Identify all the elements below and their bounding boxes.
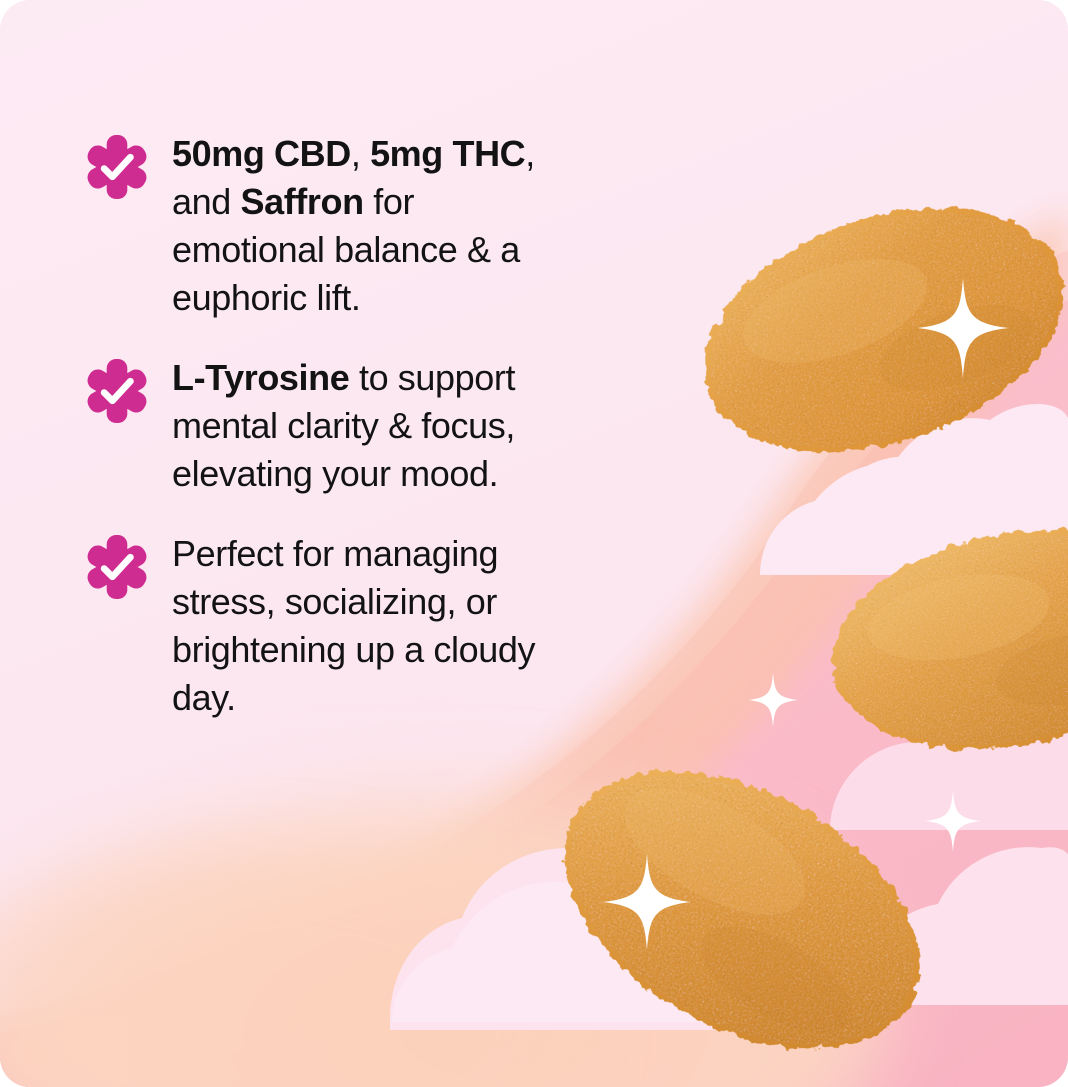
flower-check-icon (84, 534, 150, 600)
sparkle-large-bottom (603, 852, 691, 952)
sparkle-small-middle (748, 672, 798, 728)
benefit-text-3: Perfect for managing stress, socializing… (172, 528, 562, 722)
list-item: L-Tyrosine to support mental clarity & f… (84, 352, 604, 498)
benefit-1-bold-1: 50mg CBD (172, 133, 351, 174)
benefit-1-bold-3: Saffron (240, 181, 363, 222)
sparkle-large-top (917, 278, 1009, 378)
sparkle-small-right (925, 790, 981, 852)
flower-check-icon (84, 358, 150, 424)
benefit-text-2: L-Tyrosine to support mental clarity & f… (172, 352, 572, 498)
product-benefits-card: 50mg CBD, 5mg THC, and Saffron for emoti… (0, 0, 1068, 1087)
benefit-1-bold-2: 5mg THC (370, 133, 525, 174)
list-item: Perfect for managing stress, socializing… (84, 528, 604, 722)
benefit-1-plain-1: , (351, 133, 370, 174)
benefit-text-1: 50mg CBD, 5mg THC, and Saffron for emoti… (172, 128, 572, 322)
list-item: 50mg CBD, 5mg THC, and Saffron for emoti… (84, 128, 604, 322)
benefits-list: 50mg CBD, 5mg THC, and Saffron for emoti… (84, 128, 604, 722)
flower-check-icon (84, 134, 150, 200)
benefit-2-bold-1: L-Tyrosine (172, 357, 349, 398)
